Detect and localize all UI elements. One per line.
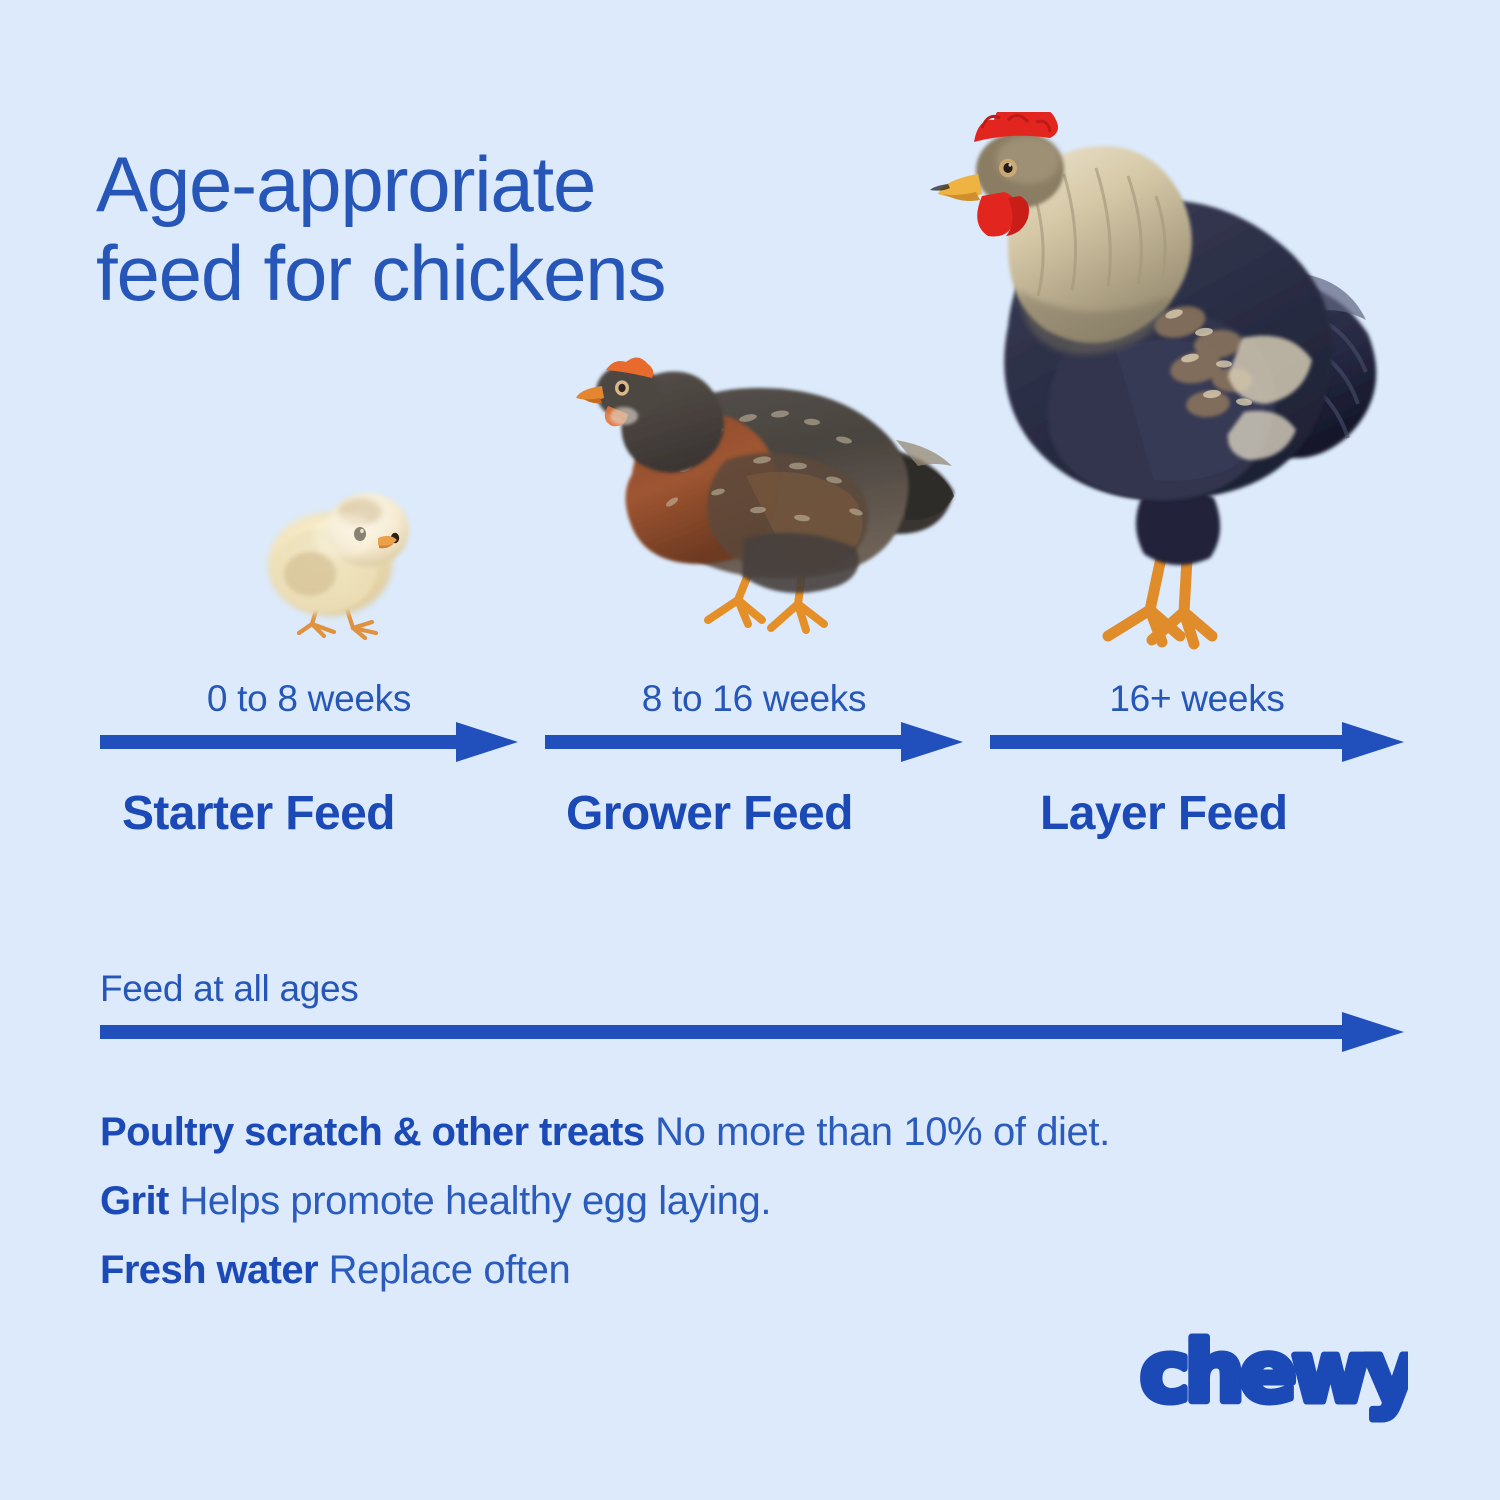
chewy-logo: chewy (1140, 1325, 1408, 1425)
baby-chick-image (252, 478, 432, 653)
all-ages-arrow (100, 1012, 1404, 1052)
all-ages-item: Fresh water Replace often (100, 1236, 1420, 1305)
segment-age-label-3: 16+ weeks (990, 678, 1404, 720)
timeline-arrow-3 (990, 722, 1404, 762)
segment-age-label-2: 8 to 16 weeks (545, 678, 963, 720)
all-ages-item-list: Poultry scratch & other treats No more t… (100, 1098, 1420, 1304)
segment-feed-label-1: Starter Feed (122, 786, 395, 841)
adult-hen-image (912, 112, 1412, 657)
all-ages-label: Feed at all ages (100, 968, 358, 1010)
page-title-line-1: Age-approriate (96, 140, 976, 229)
page-title: Age-approriate feed for chickens (96, 140, 976, 318)
infographic-canvas: Age-approriate feed for chickens (0, 0, 1500, 1500)
timeline-arrow-2 (545, 722, 963, 762)
timeline-arrow-1 (100, 722, 518, 762)
all-ages-item-lead: Poultry scratch & other treats (100, 1110, 644, 1154)
all-ages-item: Poultry scratch & other treats No more t… (100, 1098, 1420, 1167)
all-ages-item: Grit Helps promote healthy egg laying. (100, 1167, 1420, 1236)
all-ages-item-detail: Replace often (329, 1248, 571, 1292)
segment-feed-label-2: Grower Feed (566, 786, 853, 841)
chewy-logo-text: chewy (1140, 1325, 1408, 1421)
segment-feed-label-3: Layer Feed (1040, 786, 1287, 841)
all-ages-item-lead: Grit (100, 1179, 169, 1223)
all-ages-item-detail: No more than 10% of diet. (655, 1110, 1110, 1154)
all-ages-item-detail: Helps promote healthy egg laying. (179, 1179, 771, 1223)
page-title-line-2: feed for chickens (96, 229, 976, 318)
segment-age-label-1: 0 to 8 weeks (100, 678, 518, 720)
all-ages-item-lead: Fresh water (100, 1248, 318, 1292)
